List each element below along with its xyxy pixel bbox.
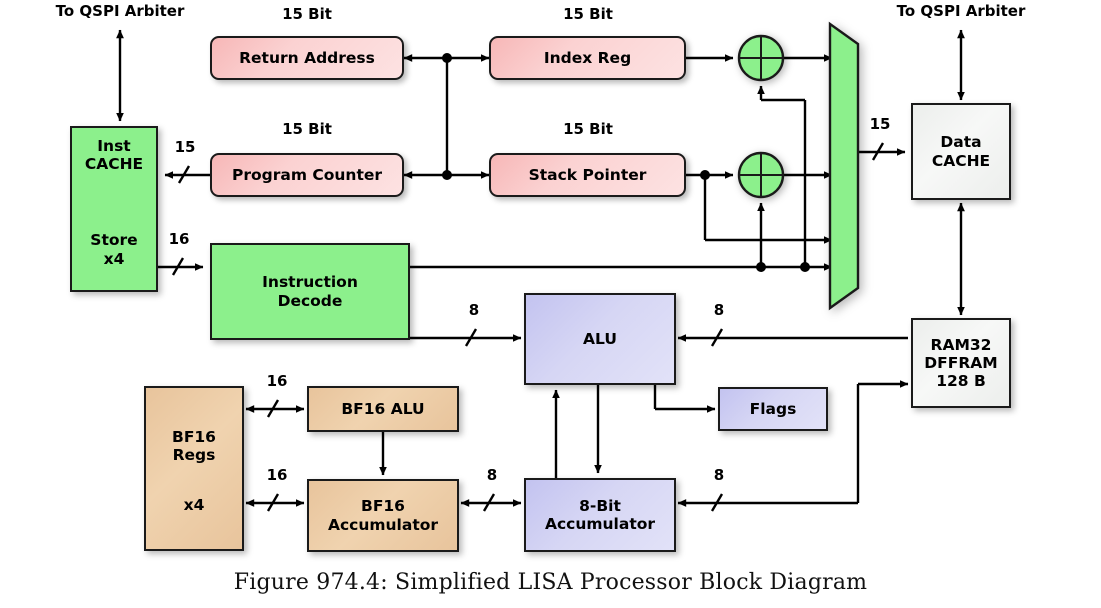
block-instruction-decode[interactable]: Instruction Decode <box>210 243 410 340</box>
block-flags[interactable]: Flags <box>718 387 828 431</box>
label-mux-to-dcache-width: 15 <box>870 115 891 133</box>
block-ram32[interactable]: RAM32 DFFRAM 128 B <box>911 318 1011 408</box>
figure-caption: Figure 974.4: Simplified LISA Processor … <box>0 570 1101 595</box>
block-bf16-regs[interactable]: BF16 Regs x4 <box>144 386 244 551</box>
alu-label: ALU <box>583 330 617 348</box>
label-return-address-bits: 15 Bit <box>282 5 332 23</box>
label-decode-to-alu-width: 8 <box>469 301 479 319</box>
bf16-regs-line3: x4 <box>184 496 205 514</box>
ram32-line3: 128 B <box>936 372 986 390</box>
address-mux <box>828 20 868 312</box>
block-index-reg[interactable]: Index Reg <box>489 36 686 80</box>
block-inst-cache[interactable]: Inst CACHE Store x4 <box>70 126 158 292</box>
label-regs-to-bf16acc-width: 16 <box>267 466 288 484</box>
block-bf16-alu[interactable]: BF16 ALU <box>307 386 459 432</box>
bf16-acc-line1: BF16 <box>361 497 405 515</box>
label-program-counter-bits: 15 Bit <box>282 120 332 138</box>
ram32-line2: DFFRAM <box>924 354 997 372</box>
block-data-cache[interactable]: Data CACHE <box>911 103 1011 200</box>
block-diagram-canvas: Inst CACHE Store x4 Return Address Index… <box>0 0 1101 608</box>
block-program-counter[interactable]: Program Counter <box>210 153 404 197</box>
bf16-acc-line2: Accumulator <box>328 516 438 534</box>
inst-cache-line1: Inst <box>85 137 143 155</box>
data-cache-line1: Data <box>940 133 981 151</box>
label-icache-to-decode-width: 16 <box>169 230 190 248</box>
data-cache-line2: CACHE <box>932 152 990 170</box>
block-return-address[interactable]: Return Address <box>210 36 404 80</box>
inst-cache-line2: CACHE <box>85 155 143 173</box>
label-ram-to-acc8-width: 8 <box>714 466 724 484</box>
label-regs-to-bf16alu-width: 16 <box>267 372 288 390</box>
label-stack-pointer-bits: 15 Bit <box>563 120 613 138</box>
block-bf16-accumulator[interactable]: BF16 Accumulator <box>307 479 459 552</box>
label-qspi-right: To QSPI Arbiter <box>897 2 1026 20</box>
bf16-alu-label: BF16 ALU <box>341 400 424 418</box>
adder-index-reg <box>737 34 785 82</box>
acc8-line2: Accumulator <box>545 515 655 533</box>
flags-label: Flags <box>750 400 797 418</box>
block-stack-pointer[interactable]: Stack Pointer <box>489 153 686 197</box>
ram32-line1: RAM32 <box>931 336 992 354</box>
return-address-label: Return Address <box>239 49 375 67</box>
label-ram-to-alu-width: 8 <box>714 301 724 319</box>
bf16-regs-line1: BF16 <box>172 428 216 446</box>
label-pc-to-icache-width: 15 <box>175 138 196 156</box>
label-qspi-left: To QSPI Arbiter <box>56 2 185 20</box>
acc8-line1: 8-Bit <box>579 497 621 515</box>
adder-stack-pointer <box>737 151 785 199</box>
inst-cache-line3: Store <box>90 231 137 249</box>
bf16-regs-line2: Regs <box>172 446 216 464</box>
index-reg-label: Index Reg <box>544 49 631 67</box>
block-8bit-accumulator[interactable]: 8-Bit Accumulator <box>524 478 676 552</box>
inst-cache-line4: x4 <box>90 250 137 268</box>
label-bf16acc-to-acc8-width: 8 <box>487 466 497 484</box>
instruction-decode-line1: Instruction <box>262 273 358 291</box>
instruction-decode-line2: Decode <box>278 292 343 310</box>
program-counter-label: Program Counter <box>232 166 382 184</box>
label-index-reg-bits: 15 Bit <box>563 5 613 23</box>
block-alu[interactable]: ALU <box>524 293 676 385</box>
stack-pointer-label: Stack Pointer <box>529 166 647 184</box>
